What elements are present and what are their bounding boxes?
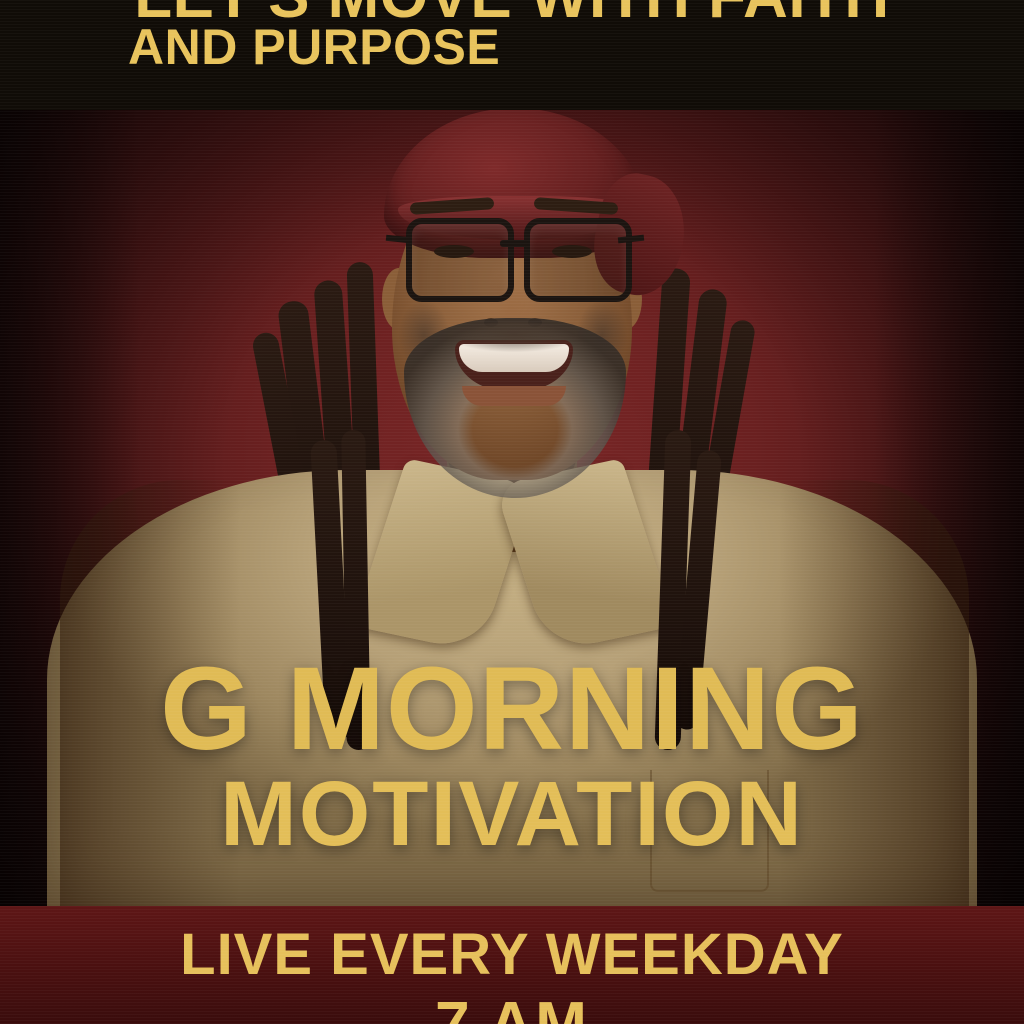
shirt-pocket [650, 770, 769, 892]
bottom-band: LIVE EVERY WEEKDAY 7 AM [0, 906, 1024, 1024]
top-banner: LET'S MOVE WITH FAITH AND PURPOSE [0, 0, 1024, 110]
lower-lip [462, 386, 566, 406]
shirt-shadow-left [60, 480, 240, 920]
top-banner-line-2: AND PURPOSE [128, 22, 500, 72]
eyeglass-bridge [500, 240, 528, 247]
mustache [446, 322, 582, 352]
schedule-line-1: LIVE EVERY WEEKDAY [0, 926, 1024, 984]
eyeglass-temple-left [386, 235, 410, 243]
eyeglass-lens-left [406, 218, 514, 302]
motivation-poster: LET'S MOVE WITH FAITH AND PURPOSE G MORN… [0, 0, 1024, 1024]
schedule-line-2: 7 AM [0, 994, 1024, 1024]
shirt-shadow-right [779, 480, 969, 920]
eyeglass-lens-right [524, 218, 632, 302]
subject-portrait [0, 0, 1024, 1024]
